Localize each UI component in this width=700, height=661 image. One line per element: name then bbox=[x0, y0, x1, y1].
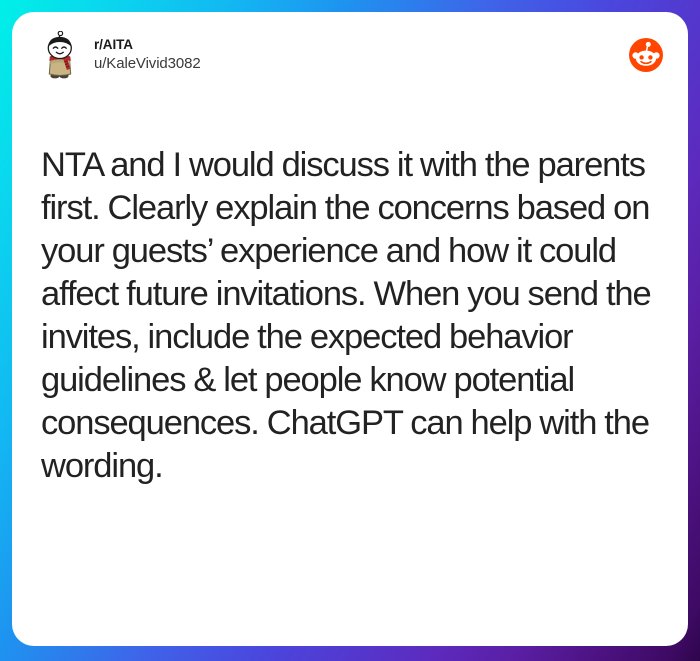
username[interactable]: u/KaleVivid3082 bbox=[94, 54, 201, 74]
post-meta: r/AITA u/KaleVivid3082 bbox=[94, 34, 201, 74]
post-card-background: r/AITA u/KaleVivid3082 bbox=[0, 0, 700, 661]
post-body: NTA and I would discuss it with the pare… bbox=[12, 144, 688, 488]
reddit-logo-icon[interactable] bbox=[629, 38, 663, 72]
post-text: NTA and I would discuss it with the pare… bbox=[41, 144, 662, 488]
reddit-post-card: r/AITA u/KaleVivid3082 bbox=[12, 12, 688, 646]
avatar[interactable] bbox=[38, 31, 82, 79]
subreddit-name[interactable]: r/AITA bbox=[94, 36, 201, 53]
post-header: r/AITA u/KaleVivid3082 bbox=[12, 12, 688, 96]
